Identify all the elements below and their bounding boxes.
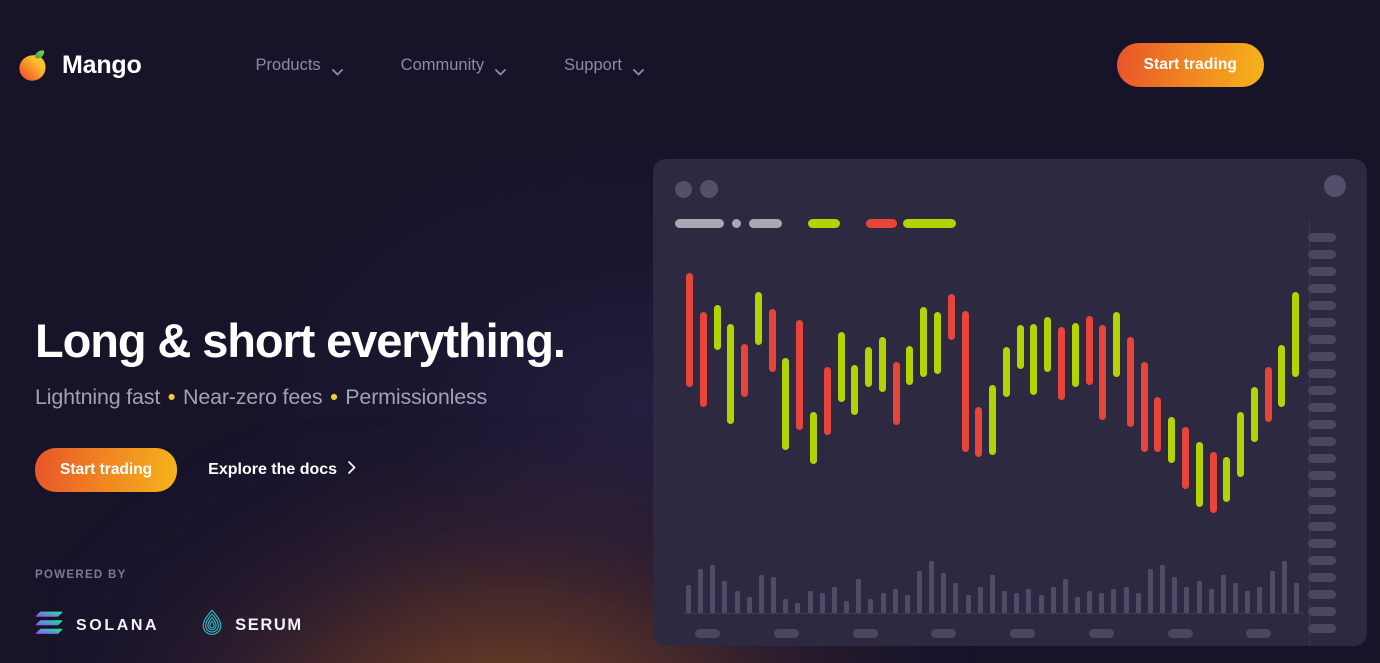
candle-bar	[769, 309, 776, 372]
candle-bar	[714, 305, 721, 350]
toolbar-pill-7[interactable]	[923, 219, 956, 228]
volume-bar	[1270, 571, 1275, 613]
candle-bar	[1210, 452, 1217, 513]
candle-bar	[700, 312, 707, 407]
candle-bar	[893, 362, 900, 425]
hero-start-trading-button[interactable]: Start trading	[35, 448, 177, 492]
hero-subtitle-part-1: Lightning fast	[35, 385, 160, 409]
volume-bar	[868, 599, 873, 613]
serum-droplet-icon	[200, 609, 224, 642]
toolbar-pill-3[interactable]	[749, 219, 782, 228]
candle-bar	[1278, 345, 1285, 407]
candle-bar	[727, 324, 734, 424]
volume-bar	[1209, 589, 1214, 613]
window-dot-2[interactable]	[700, 180, 718, 198]
candle-bar	[934, 312, 941, 374]
volume-bar	[820, 593, 825, 613]
candle-bar	[1237, 412, 1244, 477]
volume-bar	[978, 587, 983, 613]
candlestick-series	[684, 267, 1304, 567]
bullet-separator: •	[328, 385, 339, 409]
y-axis-label	[1308, 233, 1336, 242]
brand-name: Mango	[62, 51, 142, 80]
candle-bar	[1099, 325, 1106, 420]
candle-bar	[1127, 337, 1134, 427]
candle-bar	[824, 367, 831, 435]
candle-bar	[975, 407, 982, 457]
y-axis-label	[1308, 335, 1336, 344]
volume-bar	[1063, 579, 1068, 613]
candle-bar	[1141, 362, 1148, 452]
candle-bar	[906, 346, 913, 385]
nav-item-support[interactable]: Support	[564, 56, 644, 75]
volume-bar	[929, 561, 934, 613]
nav-item-products[interactable]: Products	[256, 56, 343, 75]
partner-name-solana: SOLANA	[76, 617, 159, 635]
candle-bar	[1265, 367, 1272, 422]
volume-bar	[844, 601, 849, 613]
candle-bar	[1003, 347, 1010, 397]
y-axis-label	[1308, 420, 1336, 429]
volume-bar	[966, 595, 971, 613]
x-axis-labels	[683, 629, 1313, 639]
y-axis-label	[1308, 318, 1336, 327]
y-axis-label	[1308, 301, 1336, 310]
candle-bar	[865, 347, 872, 387]
y-axis-label	[1308, 539, 1336, 548]
header-start-trading-button[interactable]: Start trading	[1117, 43, 1264, 87]
volume-bar	[1172, 577, 1177, 613]
volume-bar	[905, 595, 910, 613]
x-axis-label	[853, 629, 878, 638]
volume-axis-line	[683, 613, 1303, 614]
volume-bar	[1087, 591, 1092, 613]
candle-bar	[1251, 387, 1258, 442]
partner-name-serum: SERUM	[235, 616, 303, 635]
volume-bar	[953, 583, 958, 613]
candle-bar	[686, 273, 693, 387]
nav-label: Products	[256, 56, 321, 75]
y-axis-label	[1308, 573, 1336, 582]
x-axis-label	[1246, 629, 1271, 638]
candle-bar	[920, 307, 927, 377]
volume-bar	[1221, 575, 1226, 613]
y-axis-labels	[1308, 233, 1336, 641]
volume-bar	[881, 593, 886, 613]
volume-bar	[832, 587, 837, 613]
volume-bar	[917, 571, 922, 613]
toolbar-pill-5[interactable]	[866, 219, 897, 228]
volume-bar	[759, 575, 764, 613]
candle-bar	[1072, 323, 1079, 387]
y-axis-label	[1308, 522, 1336, 531]
volume-bar	[710, 565, 715, 613]
trading-chart-panel	[653, 159, 1367, 646]
candle-bar	[962, 311, 969, 452]
y-axis-label	[1308, 454, 1336, 463]
partner-serum[interactable]: SERUM	[200, 609, 303, 642]
nav-item-community[interactable]: Community	[401, 56, 506, 75]
hero-section: Long & short everything. Lightning fast …	[35, 316, 655, 492]
volume-bar	[1136, 593, 1141, 613]
candle-bar	[1017, 325, 1024, 369]
volume-bar	[941, 573, 946, 613]
candle-bar	[1086, 316, 1093, 385]
volume-bar	[1282, 561, 1287, 613]
y-axis-label	[1308, 556, 1336, 565]
powered-by-section: POWERED BY SOLANA	[35, 569, 303, 642]
candle-bar	[1182, 427, 1189, 489]
candle-bar	[838, 332, 845, 402]
toolbar-pill-1[interactable]	[675, 219, 724, 228]
volume-bar	[1245, 591, 1250, 613]
candle-bar	[851, 365, 858, 415]
volume-bar	[1075, 597, 1080, 613]
y-axis-label	[1308, 488, 1336, 497]
volume-series	[683, 557, 1303, 613]
candle-bar	[755, 292, 762, 345]
volume-bar	[1184, 587, 1189, 613]
candle-bar	[1044, 317, 1051, 372]
volume-bar	[1014, 593, 1019, 613]
volume-bar	[856, 579, 861, 613]
x-axis-label	[1089, 629, 1114, 638]
explore-docs-link[interactable]: Explore the docs	[208, 461, 356, 479]
candle-bar	[989, 385, 996, 455]
y-axis-label	[1308, 624, 1336, 633]
nav-label: Support	[564, 56, 622, 75]
candle-bar	[796, 320, 803, 430]
partner-solana[interactable]: SOLANA	[35, 611, 159, 640]
candle-bar	[879, 337, 886, 392]
chevron-down-icon	[332, 62, 343, 69]
chevron-down-icon	[633, 62, 644, 69]
volume-bar	[1294, 583, 1299, 613]
x-axis-label	[931, 629, 956, 638]
nav-label: Community	[401, 56, 484, 75]
candle-bar	[741, 344, 748, 397]
solana-logo-icon	[35, 611, 65, 640]
toolbar-pill-2[interactable]	[732, 219, 741, 228]
main-nav: Products Community Support	[256, 56, 644, 75]
volume-bar	[1039, 595, 1044, 613]
y-axis-label	[1308, 403, 1336, 412]
brand-logo[interactable]: Mango	[16, 46, 142, 84]
powered-by-label: POWERED BY	[35, 569, 303, 581]
volume-bar	[990, 575, 995, 613]
toolbar-pill-4[interactable]	[808, 219, 840, 228]
volume-bar	[686, 585, 691, 613]
volume-bar	[735, 591, 740, 613]
window-dot-1[interactable]	[675, 181, 692, 198]
volume-bar	[771, 577, 776, 613]
y-axis-label	[1308, 505, 1336, 514]
candle-bar	[1113, 312, 1120, 377]
bullet-separator: •	[166, 385, 177, 409]
chevron-down-icon	[495, 62, 506, 69]
candle-bar	[948, 294, 955, 340]
y-axis-label	[1308, 471, 1336, 480]
volume-bar	[1148, 569, 1153, 613]
volume-bar	[1257, 587, 1262, 613]
volume-bar	[893, 589, 898, 613]
y-axis-label	[1308, 369, 1336, 378]
y-axis-label	[1308, 590, 1336, 599]
hero-subtitle-part-2: Near-zero fees	[183, 385, 322, 409]
volume-bar	[1124, 587, 1129, 613]
y-axis-label	[1308, 250, 1336, 259]
hero-actions: Start trading Explore the docs	[35, 448, 655, 492]
candle-bar	[1223, 457, 1230, 502]
candle-bar	[810, 412, 817, 464]
site-header: Mango Products Community Support Start t…	[0, 0, 1380, 130]
candle-bar	[1292, 292, 1299, 377]
hero-title: Long & short everything.	[35, 316, 655, 367]
candle-bar	[1058, 327, 1065, 400]
avatar-placeholder[interactable]	[1324, 175, 1346, 197]
volume-bar	[698, 569, 703, 613]
volume-bar	[747, 597, 752, 613]
volume-bar	[1099, 593, 1104, 613]
volume-bar	[1002, 591, 1007, 613]
y-axis-label	[1308, 386, 1336, 395]
chevron-right-icon	[348, 461, 356, 479]
candle-bar	[782, 358, 789, 450]
candle-bar	[1168, 417, 1175, 463]
mango-fruit-icon	[16, 46, 50, 84]
y-axis-label	[1308, 284, 1336, 293]
candle-bar	[1196, 442, 1203, 507]
candle-bar	[1030, 324, 1037, 395]
y-axis-label	[1308, 437, 1336, 446]
volume-bar	[1233, 583, 1238, 613]
y-axis-label	[1308, 267, 1336, 276]
volume-bar	[1026, 589, 1031, 613]
y-axis-label	[1308, 352, 1336, 361]
candle-bar	[1154, 397, 1161, 452]
x-axis-label	[774, 629, 799, 638]
volume-bar	[808, 591, 813, 613]
volume-bar	[1111, 589, 1116, 613]
explore-docs-label: Explore the docs	[208, 461, 337, 479]
x-axis-label	[1010, 629, 1035, 638]
volume-bar	[1051, 587, 1056, 613]
volume-bar	[722, 581, 727, 613]
x-axis-label	[695, 629, 720, 638]
y-axis-label	[1308, 607, 1336, 616]
x-axis-label	[1168, 629, 1193, 638]
volume-bar	[783, 599, 788, 613]
volume-bar	[795, 603, 800, 613]
hero-subtitle: Lightning fast • Near-zero fees • Permis…	[35, 385, 655, 410]
volume-bar	[1197, 581, 1202, 613]
partner-logos: SOLANA SERUM	[35, 609, 303, 642]
hero-subtitle-part-3: Permissionless	[345, 385, 487, 409]
volume-bar	[1160, 565, 1165, 613]
